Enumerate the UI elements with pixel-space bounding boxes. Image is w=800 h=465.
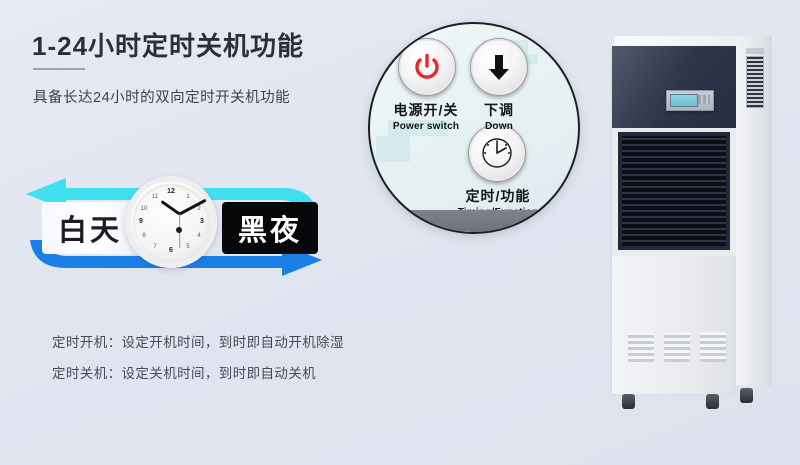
clock-number: 3 xyxy=(197,218,207,226)
clock-number: 1 xyxy=(183,193,193,201)
unit-bottom-vent xyxy=(628,332,654,362)
dehumidifier-product-image xyxy=(600,28,780,428)
down-arrow-icon xyxy=(485,52,513,82)
clock-hour-hand xyxy=(161,200,181,215)
grille-louvers xyxy=(622,136,726,246)
clock-number: 8 xyxy=(139,232,149,240)
clock-number: 9 xyxy=(136,218,146,226)
clock-number: 6 xyxy=(166,247,176,255)
title-divider xyxy=(33,68,85,70)
power-switch-button[interactable] xyxy=(398,38,456,96)
unit-lcd-display xyxy=(666,90,714,111)
down-label-cn: 下调 xyxy=(466,100,532,120)
description-line-2: 定时关机：设定关机时间，到时即自动关机 xyxy=(52,362,316,382)
power-icon xyxy=(412,52,442,82)
clock-number: 7 xyxy=(150,243,160,251)
unit-bottom-vent xyxy=(664,332,690,362)
clock-face: 12 1 2 3 4 5 6 7 8 9 10 11 xyxy=(133,184,209,260)
lcd-screen xyxy=(670,94,698,107)
unit-caster-wheel xyxy=(740,388,753,403)
unit-side-sticker xyxy=(746,48,764,54)
unit-caster-wheel xyxy=(622,394,635,409)
unit-air-grille xyxy=(618,132,730,250)
lcd-keypad xyxy=(698,95,710,104)
clock-number: 4 xyxy=(194,232,204,240)
unit-caster-wheel xyxy=(706,394,719,409)
down-label: 下调 Down xyxy=(466,100,532,132)
panel-texture-block xyxy=(376,136,410,162)
down-label-en: Down xyxy=(466,121,532,132)
unit-side-vent xyxy=(746,56,764,108)
product-feature-banner: 1-24小时定时关机功能 具备长达24小时的双向定时开关机功能 白天 黑夜 12… xyxy=(0,0,800,465)
unit-bottom-vent xyxy=(700,332,726,362)
unit-top-dark-panel xyxy=(612,46,736,128)
page-subtitle: 具备长达24小时的双向定时开关机功能 xyxy=(33,86,290,107)
day-label-pill: 白天 xyxy=(42,202,138,254)
clock-number: 5 xyxy=(183,243,193,251)
analog-clock-icon: 12 1 2 3 4 5 6 7 8 9 10 11 xyxy=(125,176,217,268)
clock-number: 11 xyxy=(150,193,160,201)
clock-number: 12 xyxy=(166,188,176,196)
clock-icon xyxy=(480,136,514,170)
timing-function-label-cn: 定时/功能 xyxy=(446,186,550,206)
unit-lower-panel xyxy=(612,256,736,394)
down-button[interactable] xyxy=(470,38,528,96)
description-line-1: 定时开机：设定开机时间，到时即自动开机除湿 xyxy=(52,331,344,351)
night-label-pill: 黑夜 xyxy=(222,202,318,254)
timing-function-button[interactable] xyxy=(468,124,526,182)
panel-base-strip xyxy=(370,210,578,232)
clock-center-pin xyxy=(176,227,182,233)
page-title: 1-24小时定时关机功能 xyxy=(32,26,304,63)
clock-number: 10 xyxy=(139,205,149,213)
control-panel-closeup: 电源开/关 Power switch 下调 Down 定时/功能 Timing/… xyxy=(368,22,580,234)
